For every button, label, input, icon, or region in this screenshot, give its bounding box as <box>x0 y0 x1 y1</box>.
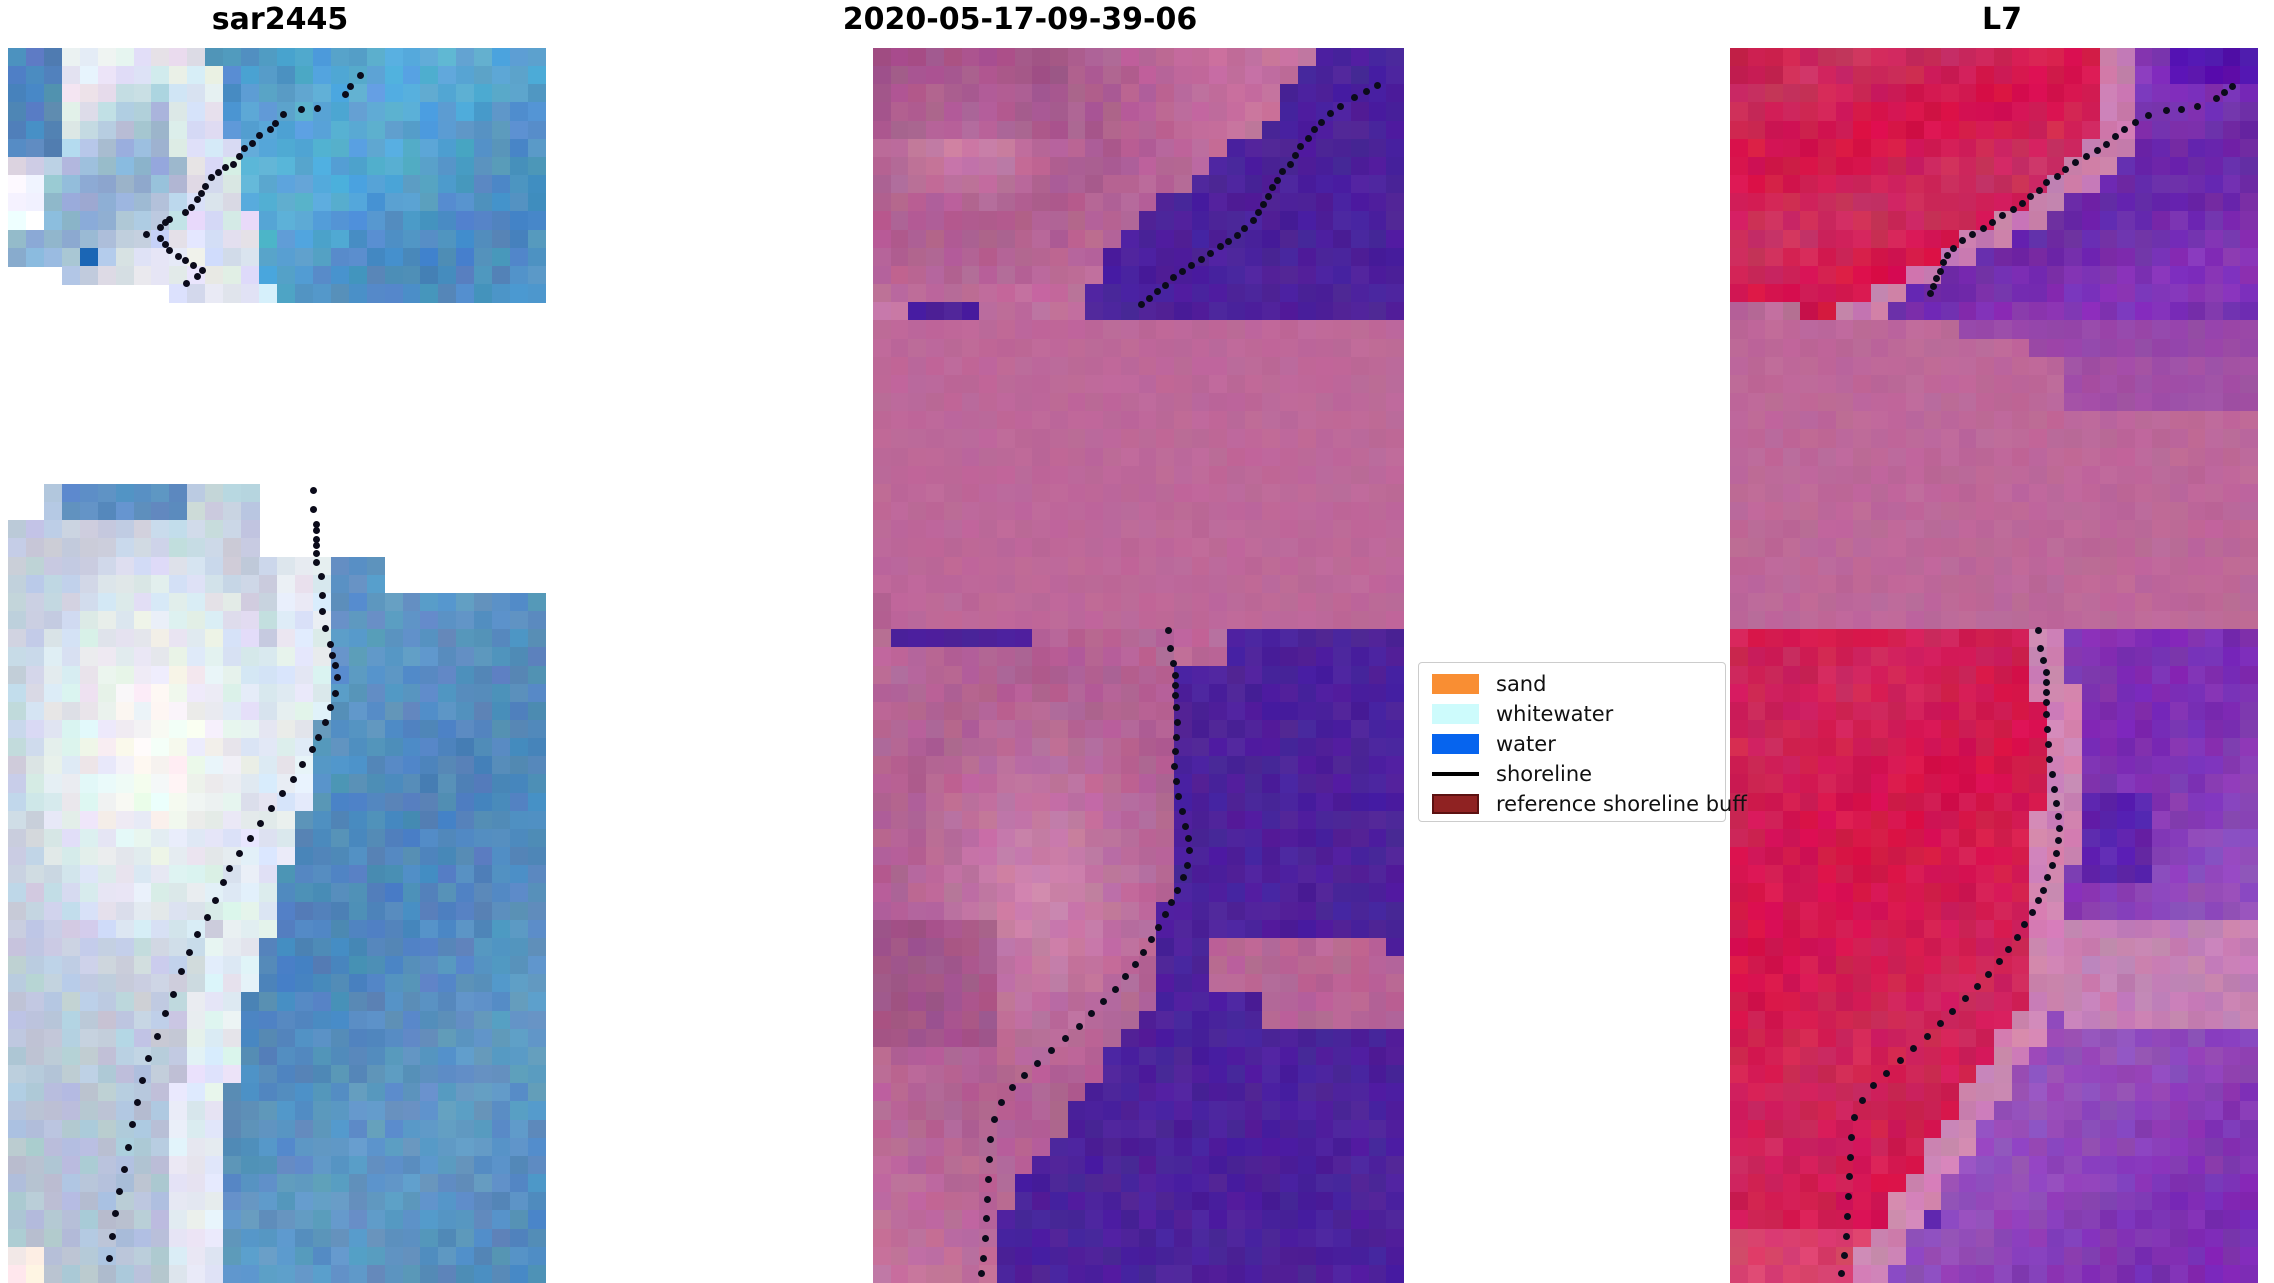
image-pixel <box>1333 466 1352 485</box>
image-pixel <box>2188 121 2207 140</box>
image-pixel <box>98 121 117 140</box>
image-pixel <box>474 84 493 103</box>
image-pixel <box>2047 139 2066 158</box>
image-pixel <box>1139 538 1158 557</box>
image-pixel <box>367 1229 386 1248</box>
classified-image[interactable] <box>873 48 1404 1283</box>
image-pixel <box>349 48 368 67</box>
image-pixel <box>1748 84 1767 103</box>
image-pixel <box>367 684 386 703</box>
image-pixel <box>1316 629 1335 648</box>
image-pixel <box>277 720 296 739</box>
image-pixel <box>2064 266 2083 285</box>
image-pixel <box>1068 702 1087 721</box>
image-pixel <box>1032 666 1051 685</box>
image-pixel <box>80 48 99 67</box>
image-pixel <box>2240 157 2258 176</box>
image-pixel <box>1730 375 1749 394</box>
image-pixel <box>2012 557 2031 576</box>
image-pixel <box>1783 393 1802 412</box>
image-pixel <box>313 1083 332 1102</box>
image-pixel <box>1853 466 1872 485</box>
image-pixel <box>2064 502 2083 521</box>
image-pixel <box>1032 411 1051 430</box>
image-pixel <box>1015 920 1034 939</box>
image-pixel <box>873 974 892 993</box>
image-pixel <box>1369 811 1388 830</box>
image-pixel <box>1068 121 1087 140</box>
image-pixel <box>1976 48 1995 67</box>
image-pixel <box>1871 357 1890 376</box>
image-pixel <box>367 865 386 884</box>
image-pixel <box>8 883 27 902</box>
image-pixel <box>1192 121 1211 140</box>
image-pixel <box>2188 502 2207 521</box>
image-pixel <box>223 992 242 1011</box>
image-pixel <box>2100 248 2119 267</box>
image-pixel <box>277 1065 296 1084</box>
image-pixel <box>510 611 529 630</box>
image-pixel <box>474 1083 493 1102</box>
image-pixel <box>1941 466 1960 485</box>
image-pixel <box>8 193 27 212</box>
image-pixel <box>1280 557 1299 576</box>
image-pixel <box>2152 339 2171 358</box>
image-pixel <box>1871 157 1890 176</box>
image-pixel <box>962 1101 981 1120</box>
image-pixel <box>908 956 927 975</box>
image-pixel <box>2064 647 2083 666</box>
image-pixel <box>456 1210 475 1229</box>
image-pixel <box>1068 248 1087 267</box>
image-pixel <box>2012 448 2031 467</box>
image-pixel <box>926 1138 945 1157</box>
image-pixel <box>1262 611 1281 630</box>
image-pixel <box>2135 139 2154 158</box>
image-pixel <box>1800 448 1819 467</box>
image-pixel <box>891 538 910 557</box>
image-pixel <box>962 974 981 993</box>
image-pixel <box>169 756 188 775</box>
image-pixel <box>1103 284 1122 303</box>
shoreline-marker <box>182 209 189 216</box>
image-pixel <box>962 902 981 921</box>
image-pixel <box>1262 920 1281 939</box>
image-pixel <box>908 1029 927 1048</box>
image-pixel <box>2029 557 2048 576</box>
image-pixel <box>891 175 910 194</box>
image-pixel <box>1245 684 1264 703</box>
image-pixel <box>2012 593 2031 612</box>
image-pixel <box>510 1029 529 1048</box>
image-pixel <box>456 992 475 1011</box>
image-pixel <box>1818 484 1837 503</box>
image-pixel <box>385 974 404 993</box>
image-pixel <box>1050 1210 1069 1229</box>
image-pixel <box>1139 157 1158 176</box>
image-pixel <box>1316 411 1335 430</box>
image-pixel <box>277 121 296 140</box>
image-pixel <box>1280 538 1299 557</box>
image-pixel <box>8 611 27 630</box>
image-pixel <box>26 629 45 648</box>
image-pixel <box>1836 248 1855 267</box>
image-pixel <box>1853 284 1872 303</box>
image-pixel <box>891 375 910 394</box>
image-pixel <box>295 684 314 703</box>
image-pixel <box>1298 1174 1317 1193</box>
image-pixel <box>44 629 63 648</box>
image-pixel <box>962 666 981 685</box>
image-pixel <box>2117 48 2136 67</box>
image-pixel <box>438 1210 457 1229</box>
image-pixel <box>44 211 63 230</box>
image-pixel <box>259 193 278 212</box>
panel-classified: 2020-05-17-09-39-06 <box>595 0 1445 1283</box>
image-pixel <box>403 593 422 612</box>
image-pixel <box>2012 66 2031 85</box>
image-pixel <box>873 883 892 902</box>
image-pixel <box>1333 375 1352 394</box>
image-pixel <box>1227 375 1246 394</box>
image-pixel <box>1994 339 2013 358</box>
image-pixel <box>1351 248 1370 267</box>
image-pixel <box>1783 629 1802 648</box>
image-pixel <box>1369 1174 1388 1193</box>
image-pixel <box>1333 557 1352 576</box>
image-pixel <box>1156 1174 1175 1193</box>
image-pixel <box>2135 230 2154 249</box>
image-pixel <box>1085 284 1104 303</box>
image-pixel <box>403 139 422 158</box>
image-pixel <box>962 793 981 812</box>
image-pixel <box>438 938 457 957</box>
image-pixel <box>277 629 296 648</box>
image-pixel <box>1085 66 1104 85</box>
shoreline-marker <box>314 105 321 112</box>
image-pixel <box>62 902 81 921</box>
image-pixel <box>2170 266 2189 285</box>
image-pixel <box>26 211 45 230</box>
image-pixel <box>116 684 135 703</box>
image-pixel <box>331 992 350 1011</box>
image-pixel <box>1174 1247 1193 1266</box>
image-pixel <box>2012 284 2031 303</box>
image-pixel <box>1800 375 1819 394</box>
image-pixel <box>474 920 493 939</box>
shoreline-marker <box>109 1233 116 1240</box>
image-pixel <box>908 992 927 1011</box>
image-pixel <box>873 1011 892 1030</box>
image-pixel <box>1871 738 1890 757</box>
image-pixel <box>62 139 81 158</box>
image-pixel <box>474 702 493 721</box>
image-pixel <box>1192 593 1211 612</box>
image-pixel <box>8 248 27 267</box>
image-pixel <box>1068 357 1087 376</box>
image-pixel <box>187 974 206 993</box>
image-pixel <box>1783 448 1802 467</box>
image-pixel <box>908 357 927 376</box>
image-pixel <box>116 829 135 848</box>
image-pixel <box>1765 102 1784 121</box>
image-pixel <box>1730 629 1749 648</box>
image-pixel <box>367 266 386 285</box>
image-pixel <box>944 1229 963 1248</box>
image-pixel <box>2064 448 2083 467</box>
image-pixel <box>187 1138 206 1157</box>
image-pixel <box>2240 48 2258 67</box>
image-pixel <box>259 1029 278 1048</box>
image-pixel <box>1976 175 1995 194</box>
image-pixel <box>1103 1047 1122 1066</box>
image-pixel <box>1156 1247 1175 1266</box>
image-pixel <box>2223 702 2242 721</box>
image-pixel <box>313 992 332 1011</box>
image-pixel <box>187 647 206 666</box>
image-pixel <box>2223 211 2242 230</box>
image-pixel <box>259 1174 278 1193</box>
image-pixel <box>420 720 439 739</box>
image-pixel <box>331 139 350 158</box>
image-pixel <box>1871 484 1890 503</box>
image-pixel <box>80 738 99 757</box>
image-pixel <box>1730 411 1749 430</box>
image-pixel <box>873 520 892 539</box>
image-pixel <box>1853 211 1872 230</box>
image-pixel <box>1316 1265 1335 1283</box>
image-pixel <box>1386 1047 1404 1066</box>
image-pixel <box>44 593 63 612</box>
image-pixel <box>151 920 170 939</box>
image-pixel <box>1298 102 1317 121</box>
image-pixel <box>277 702 296 721</box>
image-pixel <box>1888 429 1907 448</box>
image-pixel <box>187 84 206 103</box>
image-pixel <box>944 629 963 648</box>
image-pixel <box>420 1047 439 1066</box>
image-pixel <box>1050 738 1069 757</box>
image-pixel <box>2100 393 2119 412</box>
image-pixel <box>151 48 170 67</box>
image-pixel <box>367 1120 386 1139</box>
image-pixel <box>2188 393 2207 412</box>
image-pixel <box>403 793 422 812</box>
image-pixel <box>62 938 81 957</box>
image-pixel <box>1174 938 1193 957</box>
image-pixel <box>420 847 439 866</box>
image-pixel <box>2223 175 2242 194</box>
image-pixel <box>349 1029 368 1048</box>
image-pixel <box>2135 193 2154 212</box>
image-pixel <box>456 902 475 921</box>
image-pixel <box>169 502 188 521</box>
image-pixel <box>1298 593 1317 612</box>
image-pixel <box>908 248 927 267</box>
image-pixel <box>80 1011 99 1030</box>
image-pixel <box>1121 1047 1140 1066</box>
image-pixel <box>926 1011 945 1030</box>
image-pixel <box>1333 448 1352 467</box>
image-pixel <box>456 1120 475 1139</box>
image-pixel <box>1316 520 1335 539</box>
image-pixel <box>2205 666 2224 685</box>
image-pixel <box>1032 302 1051 321</box>
image-pixel <box>1298 339 1317 358</box>
image-pixel <box>1351 1065 1370 1084</box>
image-pixel <box>1015 647 1034 666</box>
image-pixel <box>1121 1029 1140 1048</box>
image-pixel <box>997 375 1016 394</box>
image-pixel <box>1032 575 1051 594</box>
image-pixel <box>1103 720 1122 739</box>
image-pixel <box>385 956 404 975</box>
image-pixel <box>44 774 63 793</box>
image-pixel <box>510 647 529 666</box>
image-pixel <box>474 1011 493 1030</box>
image-pixel <box>1888 448 1907 467</box>
image-pixel <box>2170 175 2189 194</box>
image-pixel <box>1765 302 1784 321</box>
image-pixel <box>2117 230 2136 249</box>
image-pixel <box>873 357 892 376</box>
image-pixel <box>8 793 27 812</box>
image-pixel <box>26 1101 45 1120</box>
image-pixel <box>997 883 1016 902</box>
image-pixel <box>492 902 511 921</box>
image-pixel <box>98 956 117 975</box>
sar-image[interactable] <box>8 48 546 1283</box>
image-pixel <box>1316 811 1335 830</box>
image-pixel <box>349 902 368 921</box>
image-pixel <box>1298 1192 1317 1211</box>
image-pixel <box>1068 1192 1087 1211</box>
image-pixel <box>420 1174 439 1193</box>
image-pixel <box>926 266 945 285</box>
image-pixel <box>1800 357 1819 376</box>
image-pixel <box>510 1047 529 1066</box>
image-pixel <box>134 1011 153 1030</box>
image-pixel <box>1906 520 1925 539</box>
image-pixel <box>98 1120 117 1139</box>
image-pixel <box>2188 538 2207 557</box>
image-pixel <box>1262 1101 1281 1120</box>
image-pixel <box>2170 429 2189 448</box>
image-pixel <box>1015 774 1034 793</box>
image-pixel <box>1748 448 1767 467</box>
image-pixel <box>528 248 546 267</box>
image-pixel <box>1386 84 1404 103</box>
image-pixel <box>1730 647 1749 666</box>
image-pixel <box>44 1229 63 1248</box>
image-pixel <box>1888 48 1907 67</box>
image-pixel <box>1369 102 1388 121</box>
image-pixel <box>456 647 475 666</box>
image-pixel <box>385 284 404 303</box>
image-pixel <box>1103 1174 1122 1193</box>
image-pixel <box>1280 1083 1299 1102</box>
image-pixel <box>1818 448 1837 467</box>
image-pixel <box>62 1247 81 1266</box>
image-pixel <box>2064 375 2083 394</box>
image-pixel <box>1245 956 1264 975</box>
image-pixel <box>1262 48 1281 67</box>
image-pixel <box>205 847 224 866</box>
image-pixel <box>528 193 546 212</box>
image-pixel <box>1369 1065 1388 1084</box>
image-pixel <box>456 1083 475 1102</box>
image-pixel <box>438 956 457 975</box>
image-pixel <box>1369 139 1388 158</box>
shoreline-marker <box>313 542 320 549</box>
image-pixel <box>1369 1192 1388 1211</box>
image-pixel <box>403 684 422 703</box>
image-pixel <box>1068 448 1087 467</box>
image-pixel <box>1245 829 1264 848</box>
image-pixel <box>1369 666 1388 685</box>
image-pixel <box>2064 629 2083 648</box>
image-pixel <box>1015 520 1034 539</box>
image-pixel <box>1262 647 1281 666</box>
image-pixel <box>1068 756 1087 775</box>
image-pixel <box>926 84 945 103</box>
image-pixel <box>456 48 475 67</box>
image-pixel <box>1121 1138 1140 1157</box>
image-pixel <box>944 502 963 521</box>
image-pixel <box>1050 339 1069 358</box>
image-pixel <box>1209 339 1228 358</box>
image-pixel <box>277 666 296 685</box>
image-pixel <box>1316 448 1335 467</box>
image-pixel <box>205 1101 224 1120</box>
image-pixel <box>1262 320 1281 339</box>
image-pixel <box>116 1047 135 1066</box>
image-pixel <box>1316 1011 1335 1030</box>
image-pixel <box>944 1247 963 1266</box>
image-pixel <box>1369 1029 1388 1048</box>
image-pixel <box>528 974 546 993</box>
shoreline-marker <box>199 267 206 274</box>
image-pixel <box>420 102 439 121</box>
image-pixel <box>241 847 260 866</box>
image-pixel <box>26 847 45 866</box>
shoreline-marker <box>1184 862 1191 869</box>
image-pixel <box>1280 811 1299 830</box>
image-pixel <box>926 575 945 594</box>
image-pixel <box>2152 175 2171 194</box>
image-pixel <box>331 756 350 775</box>
image-pixel <box>8 1265 27 1283</box>
image-pixel <box>205 1047 224 1066</box>
image-pixel <box>1994 48 2013 67</box>
image-pixel <box>420 666 439 685</box>
image-pixel <box>2152 484 2171 503</box>
image-pixel <box>1976 429 1995 448</box>
image-pixel <box>474 1120 493 1139</box>
shoreline-marker <box>310 487 317 494</box>
image-pixel <box>1209 466 1228 485</box>
image-pixel <box>295 811 314 830</box>
l7-image[interactable] <box>1730 48 2258 1283</box>
image-pixel <box>2117 538 2136 557</box>
image-pixel <box>259 66 278 85</box>
image-pixel <box>62 666 81 685</box>
image-pixel <box>1015 1156 1034 1175</box>
image-pixel <box>367 1047 386 1066</box>
image-pixel <box>1209 883 1228 902</box>
image-pixel <box>944 84 963 103</box>
image-pixel <box>1015 793 1034 812</box>
